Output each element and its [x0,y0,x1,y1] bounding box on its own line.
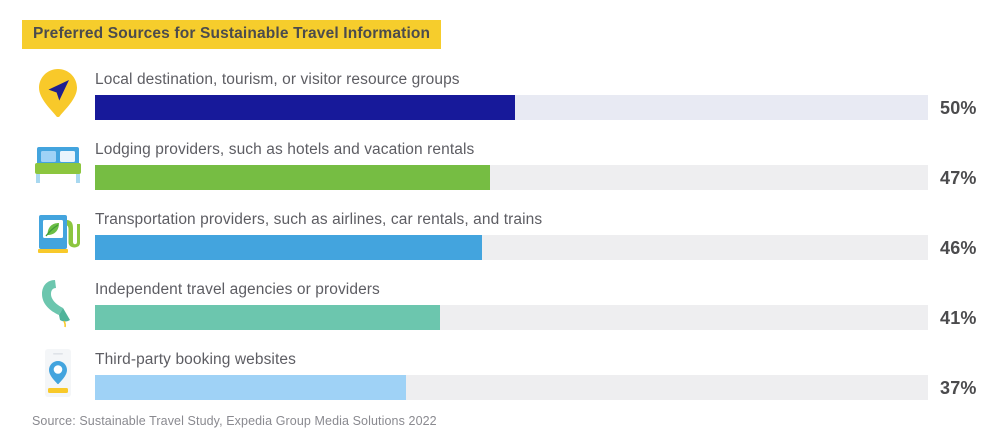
bar-fill [95,375,406,400]
chart-row: Local destination, tourism, or visitor r… [0,62,1001,132]
source-note: Source: Sustainable Travel Study, Expedi… [32,414,437,428]
chart-row: Independent travel agencies or providers… [0,272,1001,342]
bar-rows: Local destination, tourism, or visitor r… [0,62,1001,412]
row-body: Third-party booking websites [95,342,928,404]
value-label: 41% [940,306,977,330]
chart-title: Preferred Sources for Sustainable Travel… [22,20,441,49]
bar-track [95,95,928,120]
bar-fill [95,305,440,330]
eco-fuel-pump-icon [30,205,86,261]
value-label: 47% [940,166,977,190]
bar-track [95,375,928,400]
bar-fill [95,235,482,260]
row-body: Transportation providers, such as airlin… [95,202,928,264]
row-label: Lodging providers, such as hotels and va… [95,141,474,159]
chart-title-container: Preferred Sources for Sustainable Travel… [22,20,441,49]
bar-track [95,305,928,330]
chart-row: Third-party booking websites 37% [0,342,1001,412]
value-label: 37% [940,376,977,400]
row-body: Lodging providers, such as hotels and va… [95,132,928,194]
value-label: 46% [940,236,977,260]
chart-row: Transportation providers, such as airlin… [0,202,1001,272]
chart-row: Lodging providers, such as hotels and va… [0,132,1001,202]
bar-track [95,235,928,260]
value-label: 50% [940,96,977,120]
bar-fill [95,95,515,120]
bed-icon [30,135,86,191]
row-body: Independent travel agencies or providers [95,272,928,334]
bar-fill [95,165,490,190]
mobile-location-pin-icon [30,345,86,401]
row-label: Independent travel agencies or providers [95,281,380,299]
phone-handset-icon [30,275,86,331]
map-pin-navigation-icon [30,65,86,121]
infographic-chart: Preferred Sources for Sustainable Travel… [0,0,1001,445]
bar-track [95,165,928,190]
row-label: Transportation providers, such as airlin… [95,211,542,229]
row-label: Third-party booking websites [95,351,296,369]
row-body: Local destination, tourism, or visitor r… [95,62,928,124]
row-label: Local destination, tourism, or visitor r… [95,71,460,89]
